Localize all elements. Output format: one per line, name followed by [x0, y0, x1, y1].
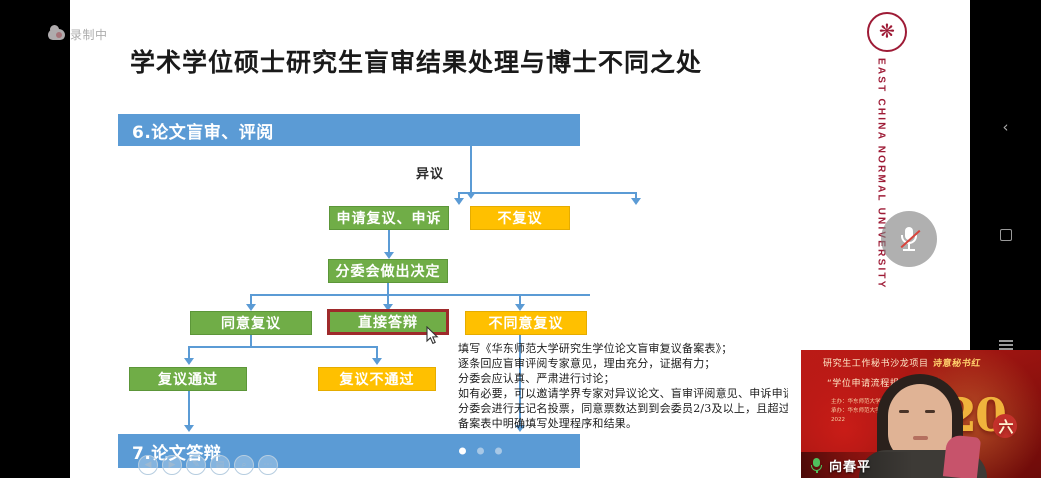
- connector-to-defense: [188, 391, 190, 427]
- banner-seal: 诗意秘书红: [932, 356, 982, 369]
- arrow-to-defense: [184, 425, 194, 432]
- arrow-to-no-review: [631, 198, 641, 205]
- node-direct-defense[interactable]: 直接答辩: [327, 309, 449, 335]
- figure-eye-left: [899, 410, 909, 413]
- node-review-failed-label: 复议不通过: [340, 369, 415, 389]
- explanatory-text: 填写《华东师范大学研究生学位论文盲审复议备案表》； 逐条回应盲审评阅专家意见，理…: [458, 341, 788, 431]
- pagination-dot: [495, 448, 502, 455]
- zoom-meeting-window: 学术学位硕士研究生盲审结果处理与博士不同之处 ❋ EAST CHINA NORM…: [0, 0, 1041, 478]
- node-disagree-review-label: 不同意复议: [489, 313, 564, 333]
- annotate-button[interactable]: ✎: [186, 455, 206, 475]
- explanatory-line: 如有必要，可以邀请学界专家对异议论文、盲审评阅意见、申诉申请进行审: [458, 386, 788, 401]
- node-review-failed[interactable]: 复议不通过: [318, 367, 436, 391]
- connector-split-3: [188, 346, 378, 348]
- connector-split-1: [458, 192, 636, 194]
- node-no-review-label: 不复议: [498, 208, 543, 228]
- pagination-dot-active: [459, 448, 466, 455]
- more-options-button[interactable]: ⋯: [258, 455, 278, 475]
- hamburger-menu-icon[interactable]: [970, 340, 1041, 350]
- recording-indicator: 录制中: [48, 26, 108, 43]
- node-apply-review-label: 申请复议、申诉: [337, 208, 442, 228]
- participant-video-tile[interactable]: 研究生工作秘书沙龙项目诗意秘书红 “学位申请流程规范”研讨会 主办：华东师范大学…: [801, 350, 1041, 478]
- banner-title: 研究生工作秘书沙龙项目诗意秘书红: [823, 356, 981, 369]
- arrow-to-disagree-review: [515, 304, 525, 311]
- arrow-to-agree-review: [246, 304, 256, 311]
- zoom-button[interactable]: ⌕: [234, 455, 254, 475]
- banner-title-text: 研究生工作秘书沙龙项目: [823, 359, 929, 369]
- explanatory-line: 填写《华东师范大学研究生学位论文盲审复议备案表》；: [458, 341, 788, 356]
- node-apply-review[interactable]: 申请复议、申诉: [329, 206, 449, 230]
- branch-label-objection: 异议: [416, 163, 444, 182]
- chevron-left-icon[interactable]: ‹: [970, 118, 1041, 136]
- figure-mouth: [913, 436, 928, 440]
- node-agree-review-label: 同意复议: [221, 313, 281, 333]
- participant-name: 向春平: [829, 456, 871, 475]
- arrow-to-review-failed: [372, 358, 382, 365]
- node-disagree-review[interactable]: 不同意复议: [465, 311, 587, 335]
- explanatory-line: 分委会进行无记名投票，同意票数达到到会委员2/3及以上，且超过全体委: [458, 401, 788, 416]
- connector-header-down: [470, 146, 472, 194]
- node-review-passed[interactable]: 复议通过: [129, 367, 247, 391]
- explanatory-line: 备案表中明确填写处理程序和结果。: [458, 416, 788, 431]
- node-subcommittee-decision-label: 分委会做出决定: [336, 261, 441, 281]
- arrow-to-decision: [384, 252, 394, 259]
- slide-nav-controls[interactable]: ◀ ▶ ✎ ▤ ⌕ ⋯: [138, 455, 278, 475]
- participant-name-bar: 向春平: [801, 452, 913, 478]
- explanatory-line: 分委会应认真、严肃进行讨论；: [458, 371, 788, 386]
- section-header-bar: 6.论文盲审、评阅: [118, 114, 580, 146]
- arrow-to-review-passed: [184, 358, 194, 365]
- play-slide-button[interactable]: ▶: [162, 455, 182, 475]
- notes-button[interactable]: ▤: [210, 455, 230, 475]
- connector-split-2: [250, 294, 590, 296]
- node-direct-defense-label: 直接答辩: [358, 312, 418, 332]
- figure-scarf: [943, 434, 981, 478]
- node-no-review[interactable]: 不复议: [470, 206, 570, 230]
- node-agree-review[interactable]: 同意复议: [190, 311, 312, 335]
- pagination-dots: [459, 448, 502, 455]
- square-icon[interactable]: [970, 229, 1041, 241]
- anniversary-badge: 六: [993, 414, 1017, 438]
- mic-base: [903, 249, 915, 251]
- pagination-dot: [477, 448, 484, 455]
- node-subcommittee-decision[interactable]: 分委会做出决定: [328, 259, 448, 283]
- arrow-to-apply-review: [454, 198, 464, 205]
- recording-label: 录制中: [70, 26, 108, 43]
- recording-dot: [56, 32, 62, 38]
- figure-eye-right: [925, 410, 935, 413]
- microphone-muted-icon[interactable]: [881, 211, 937, 267]
- explanatory-line: 逐条回应盲审评阅专家意见，理由充分，证据有力；: [458, 356, 788, 371]
- recording-cloud-icon: [48, 29, 65, 40]
- connector-to-decision: [388, 230, 390, 254]
- previous-slide-button[interactable]: ◀: [138, 455, 158, 475]
- microphone-glyph: [900, 226, 918, 252]
- microphone-icon: [811, 458, 822, 473]
- node-review-passed-label: 复议通过: [158, 369, 218, 389]
- section-header-label: 6.论文盲审、评阅: [132, 118, 274, 143]
